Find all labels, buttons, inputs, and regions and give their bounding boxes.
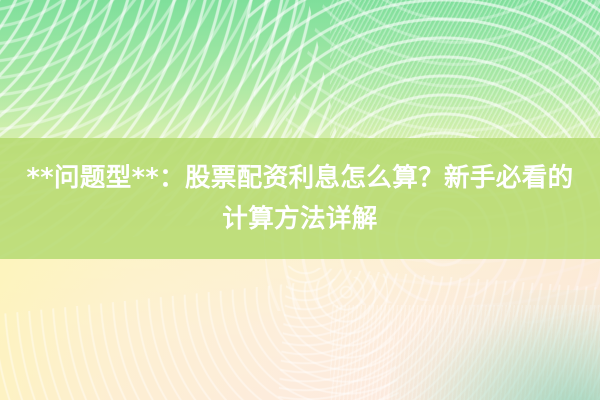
diagonal-hatch-top-right-icon: [330, 0, 600, 150]
teal-glow-bottom-right-icon: [390, 290, 600, 400]
banner-title-line-1: **问题型**：股票配资利息怎么算？新手必看的: [26, 158, 573, 199]
banner-title-line-2: 计算方法详解: [222, 199, 377, 240]
decorative-article-banner: **问题型**：股票配资利息怎么算？新手必看的 计算方法详解: [0, 0, 600, 400]
banner-title: **问题型**：股票配资利息怎么算？新手必看的 计算方法详解: [0, 138, 600, 259]
